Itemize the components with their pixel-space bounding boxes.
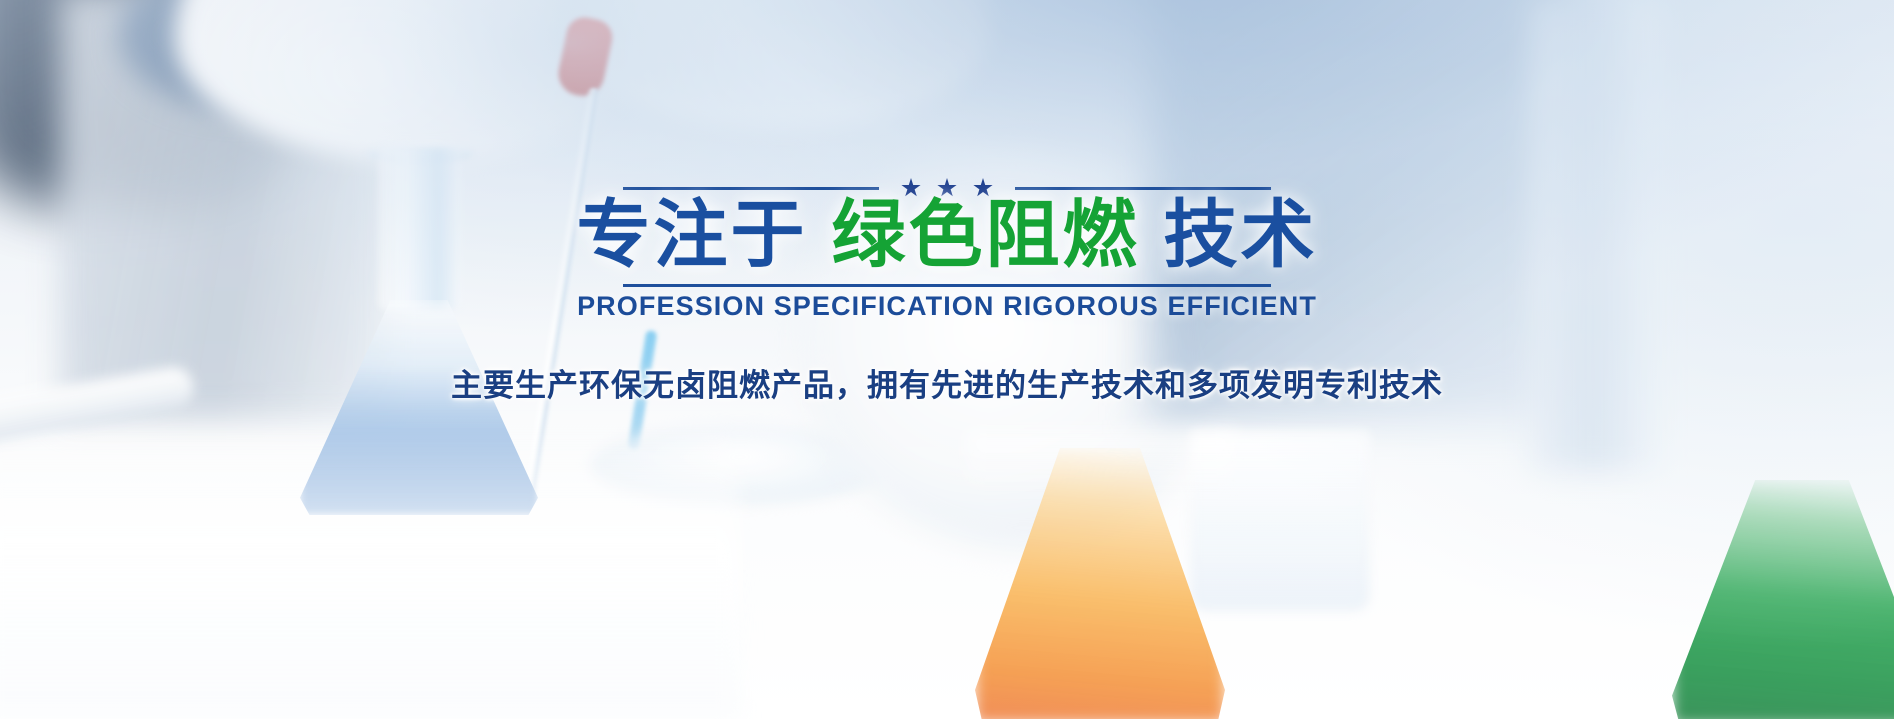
- banner-content: 专注于绿色阻燃技术 PROFESSION SPECIFICATION RIGOR…: [0, 0, 1894, 719]
- hero-banner: 专注于绿色阻燃技术 PROFESSION SPECIFICATION RIGOR…: [0, 0, 1894, 719]
- divider-line-right: [1015, 187, 1271, 190]
- divider-line-left: [623, 187, 879, 190]
- headline-part-2: 绿色阻燃: [832, 193, 1140, 276]
- headline-underline: [623, 284, 1271, 287]
- subtitle-english: PROFESSION SPECIFICATION RIGOROUS EFFICI…: [577, 291, 1317, 322]
- description-chinese: 主要生产环保无卤阻燃产品，拥有先进的生产技术和多项发明专利技术: [451, 360, 1443, 405]
- headline: 专注于绿色阻燃技术: [577, 196, 1318, 274]
- headline-part-3: 技术: [1164, 193, 1318, 276]
- headline-part-1: 专注于: [577, 193, 808, 276]
